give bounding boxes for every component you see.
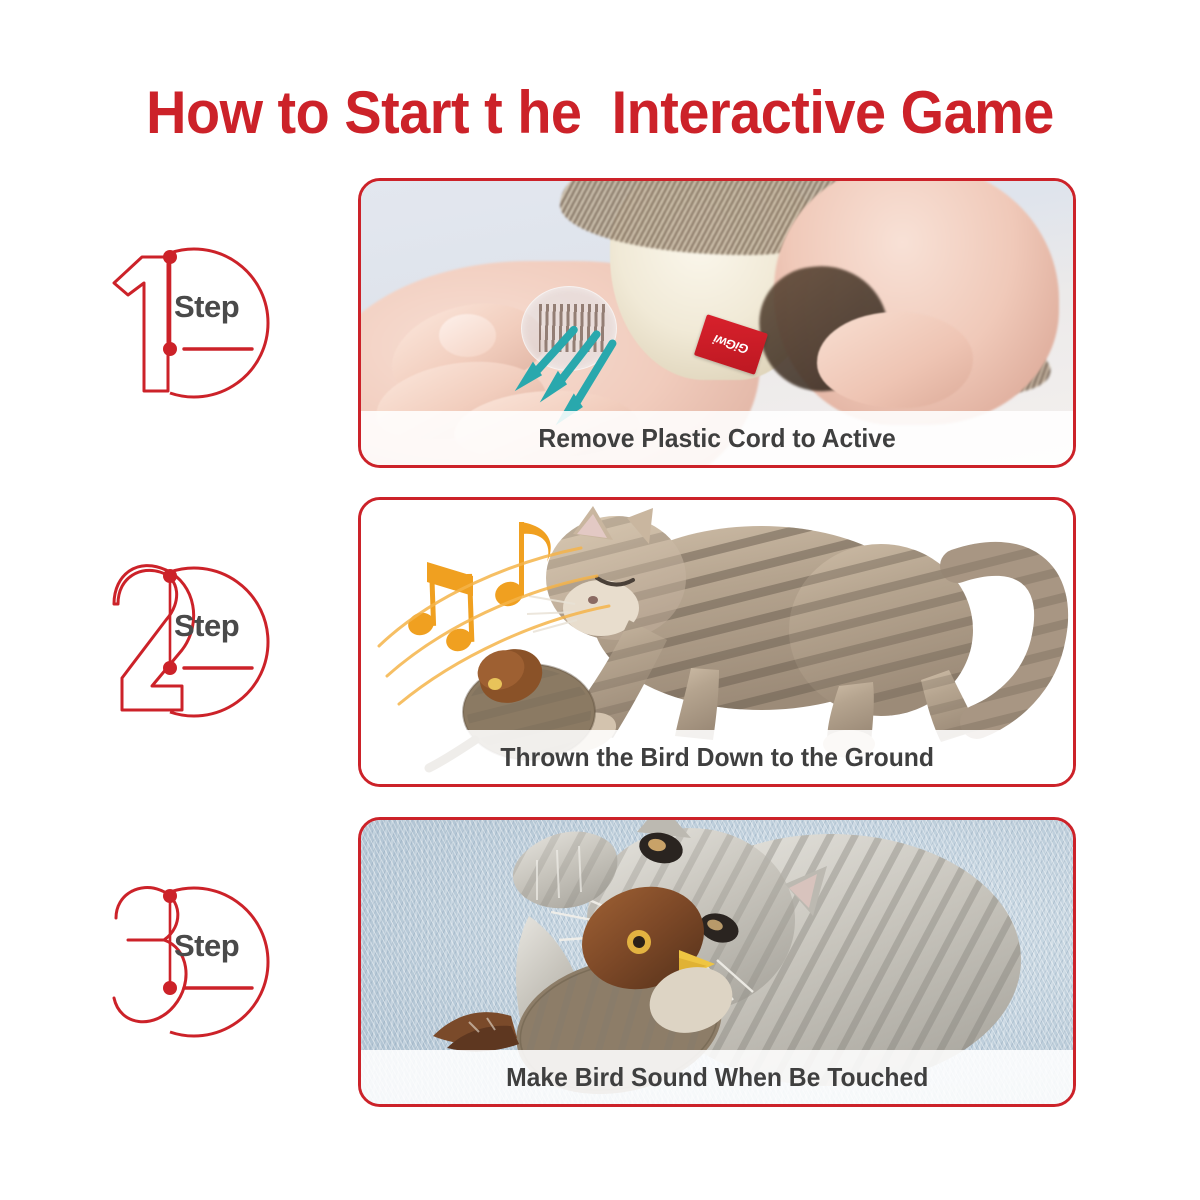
step-row-3: Step <box>0 817 1200 1107</box>
infographic-page: How to Start t he Interactive Game Step <box>0 0 1200 1200</box>
step-card-3: Make Bird Sound When Be Touched <box>358 817 1076 1107</box>
fingernail <box>439 314 496 357</box>
step-caption-band-2: Thrown the Bird Down to the Ground <box>361 730 1073 784</box>
step-caption-band-3: Make Bird Sound When Be Touched <box>361 1050 1073 1104</box>
step-caption-1: Remove Plastic Cord to Active <box>538 423 895 454</box>
step-card-1: GiGwi Remov <box>358 178 1076 468</box>
step-row-1: Step GiGwi <box>0 178 1200 468</box>
step-badge-2-label: Step <box>174 610 239 641</box>
step-badge-3: Step <box>108 878 288 1046</box>
brand-tag-label: GiGwi <box>712 332 751 357</box>
step-badge-1-label: Step <box>174 291 239 322</box>
thumb <box>817 312 974 409</box>
step-caption-band-1: Remove Plastic Cord to Active <box>361 411 1073 465</box>
step-card-2: Thrown the Bird Down to the Ground <box>358 497 1076 787</box>
step-caption-2: Thrown the Bird Down to the Ground <box>500 742 934 773</box>
step-badge-3-label: Step <box>174 930 239 961</box>
step-badge-2: Step <box>108 558 288 726</box>
page-title: How to Start t he Interactive Game <box>42 78 1158 147</box>
step-caption-3: Make Bird Sound When Be Touched <box>506 1062 928 1093</box>
cat <box>527 506 1051 758</box>
step-badge-1: Step <box>108 239 288 407</box>
step-row-2: Step <box>0 497 1200 787</box>
